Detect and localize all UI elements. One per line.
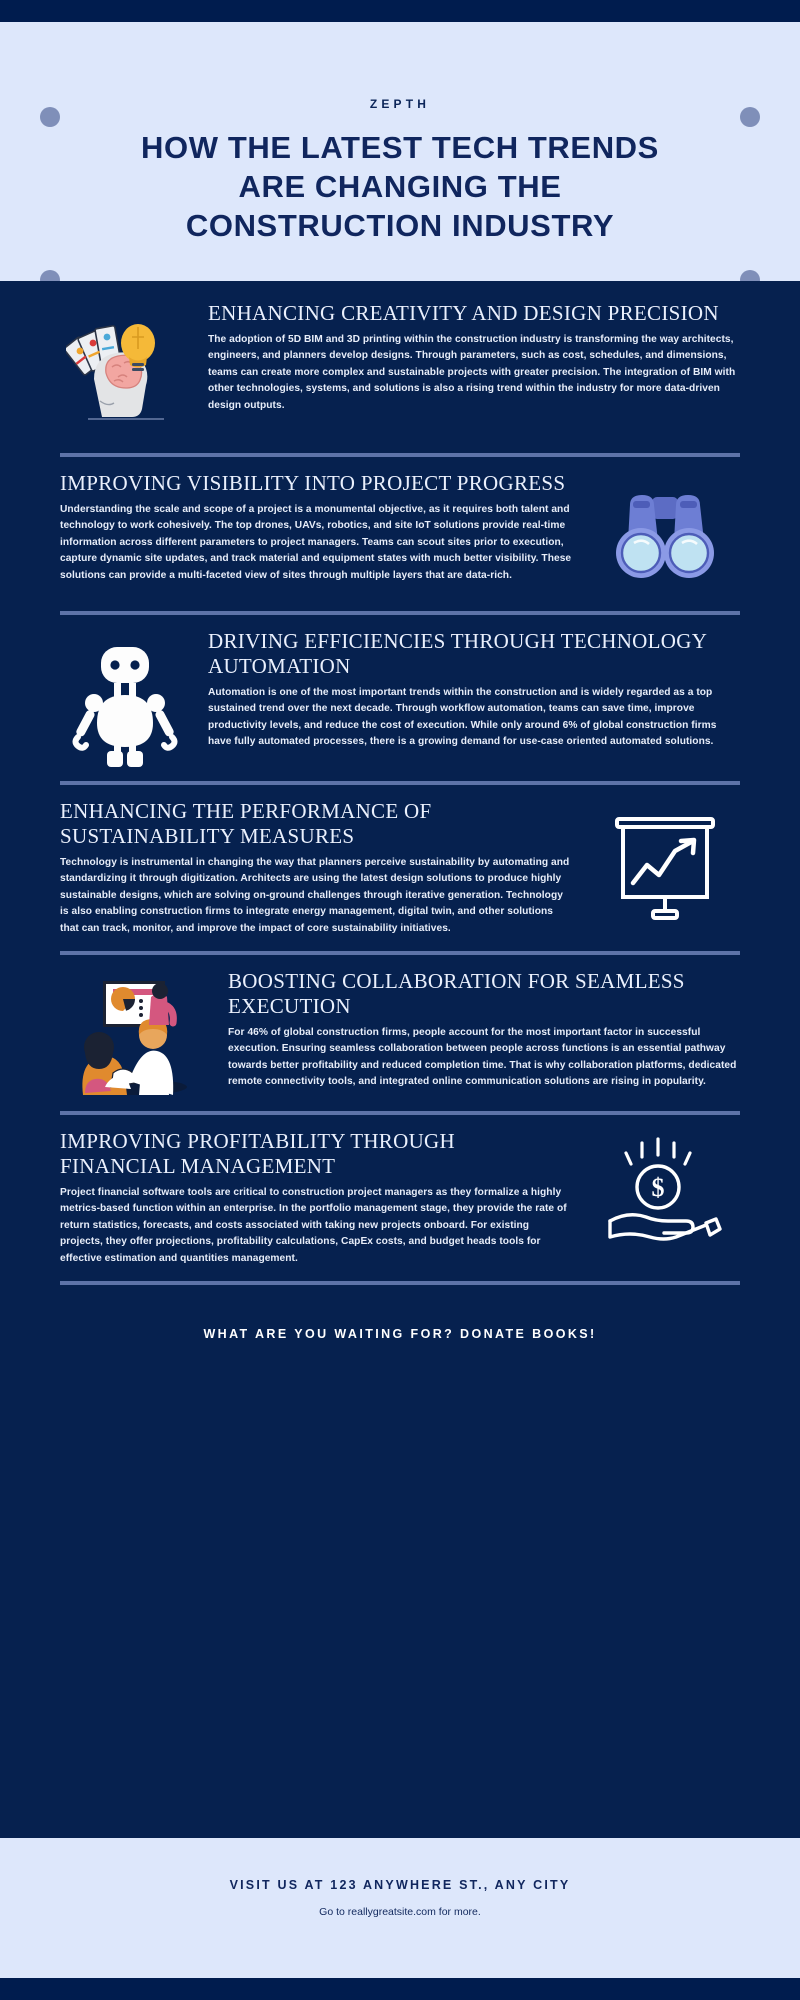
gap — [0, 1267, 800, 1281]
section-text: IMPROVING PROFITABILITY THROUGH FINANCIA… — [60, 1129, 572, 1267]
page-title-line-3: CONSTRUCTION INDUSTRY — [141, 207, 659, 246]
top-gap — [0, 281, 800, 301]
bottom-accent-bar — [0, 1978, 800, 2000]
brain-lightbulb-icon — [60, 301, 190, 439]
section-body: Project financial software tools are cri… — [60, 1185, 572, 1268]
section-text: BOOSTING COLLABORATION FOR SEAMLESS EXEC… — [228, 969, 740, 1091]
hand-coin-icon: $ — [590, 1129, 740, 1255]
gap — [0, 767, 800, 781]
sections-container: ENHANCING CREATIVITY AND DESIGN PRECISIO… — [0, 281, 800, 1838]
svg-text:$: $ — [652, 1173, 665, 1202]
section-enhancing-creativity: ENHANCING CREATIVITY AND DESIGN PRECISIO… — [0, 301, 800, 439]
section-title: IMPROVING PROFITABILITY THROUGH FINANCIA… — [60, 1129, 572, 1179]
page-title-line-1: HOW THE LATEST TECH TRENDS — [141, 129, 659, 168]
cta-text[interactable]: WHAT ARE YOU WAITING FOR? DONATE BOOKS! — [0, 1327, 800, 1341]
cta-band: WHAT ARE YOU WAITING FOR? DONATE BOOKS! — [0, 1285, 800, 1387]
footer-band: VISIT US AT 123 ANYWHERE ST., ANY CITY G… — [0, 1838, 800, 1978]
gap — [0, 457, 800, 471]
section-title: ENHANCING THE PERFORMANCE OF SUSTAINABIL… — [60, 799, 572, 849]
top-accent-bar — [0, 0, 800, 22]
gap — [0, 1115, 800, 1129]
section-body: Technology is instrumental in changing t… — [60, 855, 572, 938]
section-sustainability-performance: ENHANCING THE PERFORMANCE OF SUSTAINABIL… — [0, 799, 800, 937]
section-text: ENHANCING CREATIVITY AND DESIGN PRECISIO… — [208, 301, 740, 414]
gap — [0, 937, 800, 951]
gap — [0, 1097, 800, 1111]
section-text: ENHANCING THE PERFORMANCE OF SUSTAINABIL… — [60, 799, 572, 937]
section-text: DRIVING EFFICIENCIES THROUGH TECHNOLOGY … — [208, 629, 740, 751]
page-title: HOW THE LATEST TECH TRENDS ARE CHANGING … — [141, 129, 659, 245]
section-body: For 46% of global construction firms, pe… — [228, 1025, 740, 1091]
section-title: BOOSTING COLLABORATION FOR SEAMLESS EXEC… — [228, 969, 740, 1019]
section-title: IMPROVING VISIBILITY INTO PROJECT PROGRE… — [60, 471, 572, 496]
section-title: ENHANCING CREATIVITY AND DESIGN PRECISIO… — [208, 301, 740, 326]
team-meeting-icon — [60, 969, 210, 1097]
gap — [0, 785, 800, 799]
binoculars-icon — [590, 471, 740, 597]
presentation-chart-icon — [590, 799, 740, 931]
section-driving-efficiencies: DRIVING EFFICIENCIES THROUGH TECHNOLOGY … — [0, 629, 800, 767]
section-body: Automation is one of the most important … — [208, 685, 740, 751]
brand-name: ZEPTH — [370, 97, 430, 111]
header-band: ZEPTH HOW THE LATEST TECH TRENDS ARE CHA… — [0, 22, 800, 281]
gap — [0, 615, 800, 629]
section-improving-visibility: IMPROVING VISIBILITY INTO PROJECT PROGRE… — [0, 471, 800, 597]
gap — [0, 597, 800, 611]
gap — [0, 955, 800, 969]
section-body: Understanding the scale and scope of a p… — [60, 502, 572, 585]
footer-website[interactable]: Go to reallygreatsite.com for more. — [319, 1906, 481, 1918]
decorative-dot-top-left — [40, 107, 60, 127]
infographic-page: ZEPTH HOW THE LATEST TECH TRENDS ARE CHA… — [0, 0, 800, 2000]
section-title: DRIVING EFFICIENCIES THROUGH TECHNOLOGY … — [208, 629, 740, 679]
section-boosting-collaboration: BOOSTING COLLABORATION FOR SEAMLESS EXEC… — [0, 969, 800, 1097]
section-improving-profitability: $ IMPROVING PROFITABILITY THROUGH FINANC… — [0, 1129, 800, 1267]
gap — [0, 439, 800, 453]
footer-address: VISIT US AT 123 ANYWHERE ST., ANY CITY — [230, 1878, 571, 1892]
page-title-line-2: ARE CHANGING THE — [141, 168, 659, 207]
robot-icon — [60, 629, 190, 767]
section-body: The adoption of 5D BIM and 3D printing w… — [208, 332, 740, 415]
decorative-dot-top-right — [740, 107, 760, 127]
section-text: IMPROVING VISIBILITY INTO PROJECT PROGRE… — [60, 471, 572, 584]
